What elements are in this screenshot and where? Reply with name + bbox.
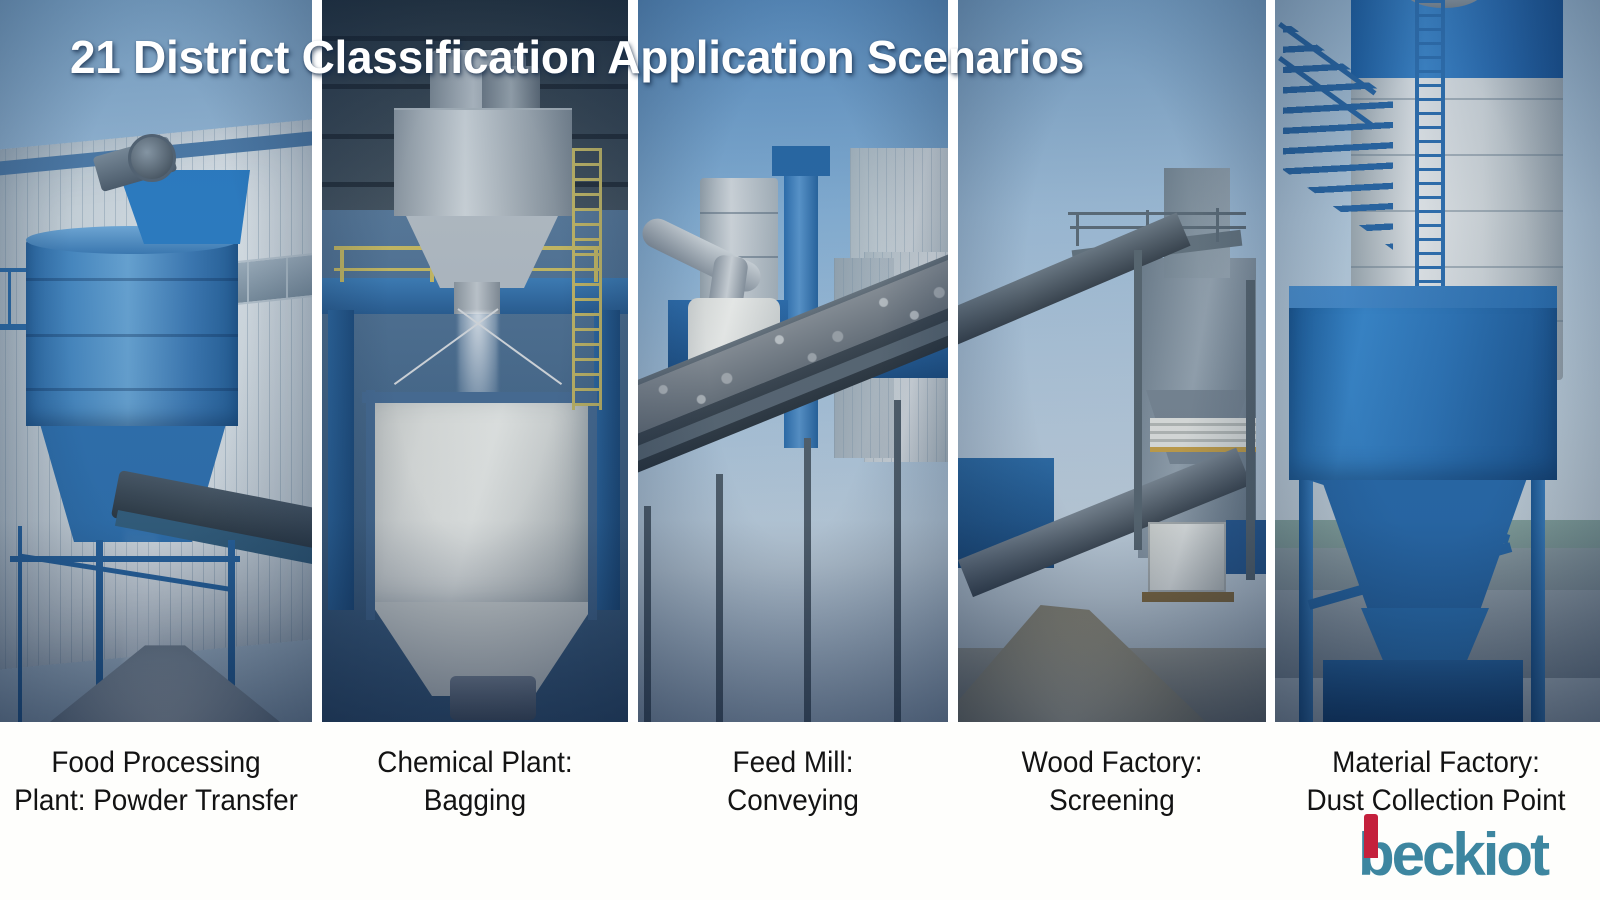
bulk-bag — [370, 396, 596, 604]
caption-panel-2: Chemical Plant: Bagging — [333, 744, 618, 820]
rail-post — [8, 268, 11, 324]
support-column — [1246, 280, 1255, 580]
discharge-base-unit — [1323, 660, 1523, 722]
access-ladder — [572, 148, 602, 410]
caption-line-1: Chemical Plant: — [333, 744, 618, 782]
conveyor-support-leg — [804, 438, 811, 722]
caption-panel-5: Material Factory: Dust Collection Point — [1283, 744, 1588, 820]
dust-collector-lid — [1289, 286, 1557, 308]
ibc-tote — [1148, 522, 1226, 592]
logo-wordmark-text: beckiot — [1358, 820, 1547, 889]
caption-line-1: Material Factory: — [1283, 744, 1588, 782]
conveyor-support-leg — [644, 506, 651, 722]
bag-frame-post — [588, 390, 597, 620]
scene-material-factory-dust-collection — [1275, 0, 1600, 722]
caption-panel-1: Food Processing Plant: Powder Transfer — [11, 744, 301, 820]
scene-food-processing-powder-transfer — [0, 0, 312, 722]
caption-line-2: Screening — [969, 782, 1255, 820]
stacked-pallet-bags — [1150, 418, 1256, 452]
blower-fan — [128, 134, 176, 182]
slide-title: 21 District Classification Application S… — [70, 30, 1084, 84]
conveyor-support-leg — [716, 474, 723, 722]
panel-3-feed-mill[interactable] — [638, 0, 948, 722]
beckiot-logo[interactable]: beckiot — [1352, 812, 1590, 888]
bag-frame-post — [366, 390, 375, 620]
caption-panel-3: Feed Mill: Conveying — [649, 744, 937, 820]
platform-handrail — [1068, 212, 1246, 215]
dust-collector-body — [1289, 300, 1557, 480]
elevator-head — [772, 146, 830, 176]
caption-line-1: Food Processing — [11, 744, 301, 782]
blue-silo — [26, 238, 238, 426]
support-column — [1134, 250, 1142, 550]
discharge-funnel — [406, 216, 558, 288]
rail-post — [1076, 212, 1079, 246]
caption-line-2: Bagging — [333, 782, 618, 820]
scene-feed-mill-conveying — [638, 0, 948, 722]
rail-post — [1216, 208, 1219, 242]
weigh-hopper-body — [394, 108, 572, 216]
bag-frame-top-rail — [362, 392, 596, 403]
panel-5-material-factory[interactable] — [1275, 0, 1600, 722]
rail-post — [340, 246, 344, 282]
scene-chemical-plant-bagging — [322, 0, 628, 722]
structural-column — [328, 310, 354, 610]
caption-line-1: Wood Factory: — [969, 744, 1255, 782]
logo-b-accent — [1364, 814, 1378, 858]
caption-panel-4: Wood Factory: Screening — [969, 744, 1255, 820]
caption-line-2: Plant: Powder Transfer — [11, 782, 301, 820]
caption-line-2: Conveying — [649, 782, 937, 820]
discharge-drum — [450, 676, 536, 720]
scene-wood-factory-screening — [958, 0, 1266, 722]
panel-1-food-processing[interactable] — [0, 0, 312, 722]
scenario-image-strip — [0, 0, 1600, 722]
caption-line-1: Feed Mill: — [649, 744, 937, 782]
panel-2-chemical-plant[interactable] — [322, 0, 628, 722]
tote-pallet — [1142, 592, 1234, 602]
silo-blue-band — [1351, 0, 1563, 78]
panel-4-wood-factory[interactable] — [958, 0, 1266, 722]
conveyor-support-leg — [894, 400, 901, 722]
